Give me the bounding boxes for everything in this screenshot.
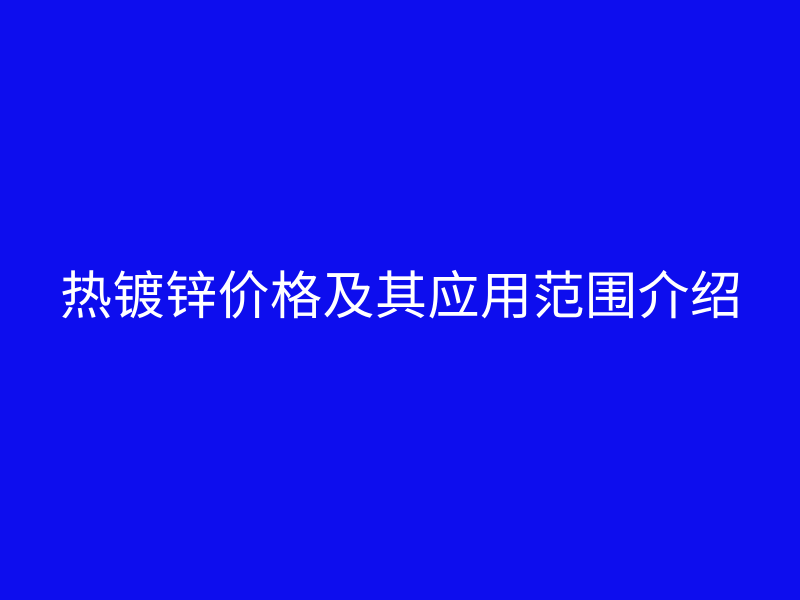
title-banner: 热镀锌价格及其应用范围介绍 [0,0,800,600]
banner-title: 热镀锌价格及其应用范围介绍 [60,269,743,325]
title-block: 热镀锌价格及其应用范围介绍 [0,0,800,600]
